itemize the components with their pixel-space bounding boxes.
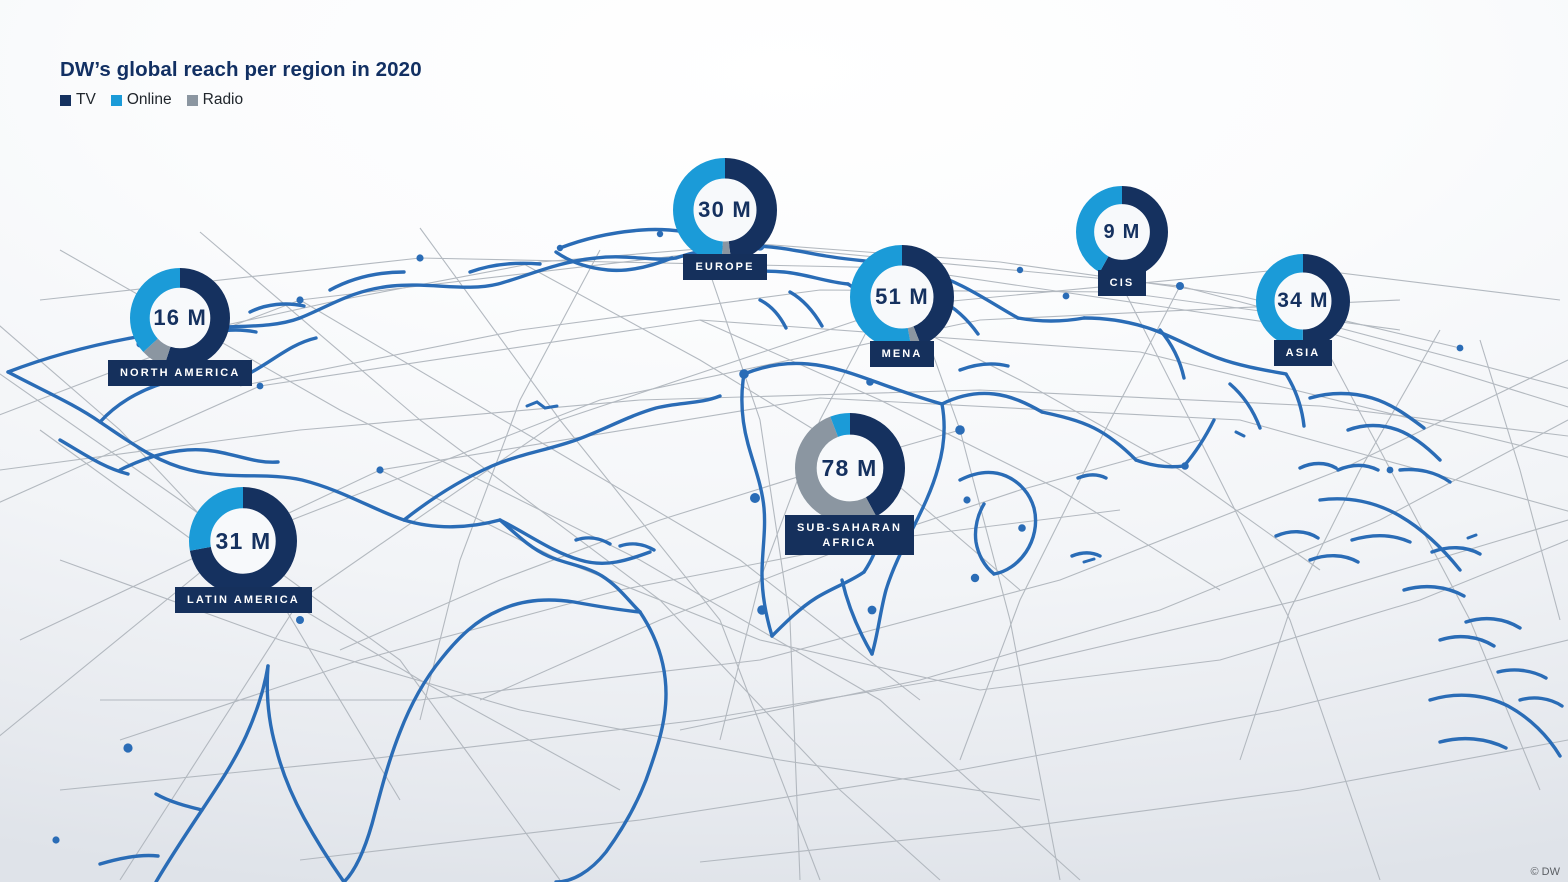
region-label-north-america: NORTH AMERICA	[108, 360, 252, 386]
region-label-europe: EUROPE	[683, 254, 766, 280]
legend-swatch-online	[111, 95, 122, 106]
legend-item-online: Online	[111, 91, 172, 109]
legend-swatch-radio	[187, 95, 198, 106]
region-label-mena: MENA	[870, 341, 935, 367]
page-title: DW’s global reach per region in 2020	[60, 58, 422, 82]
donut-chart-europe: 30 M	[673, 158, 777, 262]
legend-label-tv: TV	[76, 91, 96, 109]
region-sub-saharan-africa[interactable]: 78 MSUB-SAHARAN AFRICA	[785, 413, 914, 555]
chart-header: DW’s global reach per region in 2020 TV …	[60, 58, 422, 109]
donut-chart-mena: 51 M	[850, 245, 954, 349]
region-label-sub-saharan-africa: SUB-SAHARAN AFRICA	[785, 515, 914, 555]
region-europe[interactable]: 30 MEUROPE	[673, 158, 777, 280]
region-asia[interactable]: 34 MASIA	[1256, 254, 1350, 366]
region-label-cis: CIS	[1098, 270, 1147, 296]
legend: TV Online Radio	[60, 91, 422, 109]
legend-swatch-tv	[60, 95, 71, 106]
region-label-latin-america: LATIN AMERICA	[175, 587, 312, 613]
donut-chart-latin-america: 31 M	[189, 487, 297, 595]
infographic-canvas: DW’s global reach per region in 2020 TV …	[0, 0, 1568, 882]
legend-label-online: Online	[127, 91, 172, 109]
donut-chart-asia: 34 M	[1256, 254, 1350, 348]
region-north-america[interactable]: 16 MNORTH AMERICA	[108, 268, 252, 386]
donut-chart-north-america: 16 M	[130, 268, 230, 368]
world-map-background	[0, 0, 1568, 882]
legend-item-radio: Radio	[187, 91, 244, 109]
region-cis[interactable]: 9 MCIS	[1076, 186, 1168, 296]
donut-chart-sub-saharan-africa: 78 M	[795, 413, 905, 523]
legend-label-radio: Radio	[203, 91, 244, 109]
copyright-notice: © DW	[1531, 866, 1561, 878]
region-latin-america[interactable]: 31 MLATIN AMERICA	[175, 487, 312, 613]
donut-chart-cis: 9 M	[1076, 186, 1168, 278]
legend-item-tv: TV	[60, 91, 96, 109]
region-mena[interactable]: 51 MMENA	[850, 245, 954, 367]
region-label-asia: ASIA	[1274, 340, 1333, 366]
